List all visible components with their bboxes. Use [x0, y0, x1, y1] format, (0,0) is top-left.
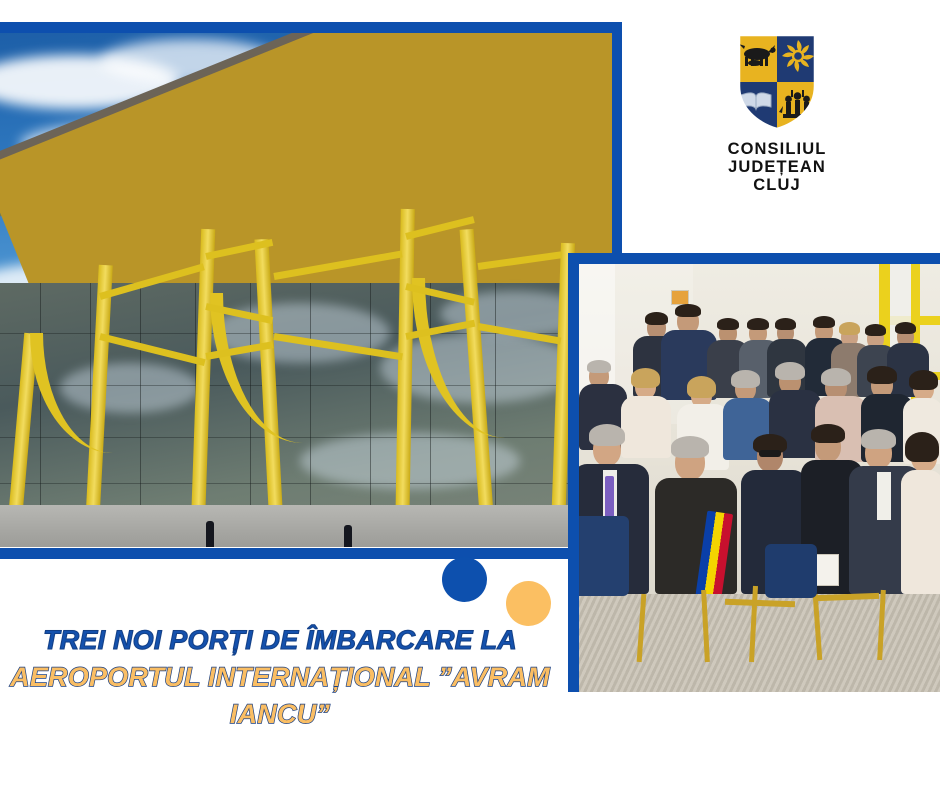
mullion	[310, 283, 311, 533]
attendee-hair	[775, 318, 796, 330]
seat-back	[765, 544, 817, 598]
pedestrian	[206, 521, 214, 547]
blue-circle-decor	[442, 557, 487, 602]
attendee-hair	[865, 324, 886, 336]
attendee-hair	[895, 322, 916, 334]
seat-back	[579, 516, 629, 596]
shirt	[877, 472, 891, 520]
county-council-logo: CONSILIUL JUDEȚEAN CLUJ	[712, 32, 842, 197]
attendee-hair	[671, 436, 709, 458]
frame-bar-bottom	[0, 548, 568, 559]
mullion	[370, 283, 371, 533]
attendee-hair	[587, 360, 611, 373]
coat-of-arms-shield-icon	[735, 32, 819, 132]
attendee-hair	[631, 368, 660, 388]
audience-event-photo	[579, 264, 940, 692]
attendee-hair	[861, 429, 896, 449]
mullion	[40, 283, 41, 533]
logo-line-3: CLUJ	[753, 176, 801, 194]
attendee-hair	[821, 368, 851, 386]
logo-line-2: JUDEȚEAN	[728, 158, 826, 176]
attendee-hair	[589, 424, 625, 446]
attendee-hair	[909, 370, 938, 390]
frame-bar-top-right	[568, 253, 940, 264]
logo-text-block: CONSILIUL JUDEȚEAN CLUJ	[712, 140, 842, 194]
frame-bar-left-right	[568, 253, 579, 692]
attendee-hair	[905, 432, 939, 462]
orange-circle-decor	[506, 581, 551, 626]
wall-socket	[671, 290, 689, 305]
attendee-hair	[813, 316, 835, 328]
floor	[579, 594, 940, 692]
attendee-hair	[775, 362, 805, 380]
attendee-body-front	[901, 470, 940, 594]
attendee-hair	[675, 304, 701, 317]
attendee-hair	[717, 318, 739, 330]
logo-line-1: CONSILIUL	[728, 140, 827, 158]
pedestrian	[344, 525, 352, 547]
mullion	[140, 283, 141, 533]
headline-line-2: AEROPORTUL INTERNAȚIONAL ”AVRAM	[0, 659, 560, 696]
terminal-forecourt	[0, 505, 612, 547]
attendee-hair	[811, 424, 845, 443]
attendee-hair	[731, 370, 760, 388]
headline: TREI NOI PORȚI DE ÎMBARCARE LA AEROPORTU…	[0, 622, 560, 733]
poster-canvas: CONSILIUL JUDEȚEAN CLUJ TREI NOI PORȚI D…	[0, 0, 940, 788]
attendee-hair	[839, 322, 860, 335]
attendee-hair	[867, 366, 897, 384]
attendee-body	[621, 396, 671, 458]
sunglasses	[759, 450, 781, 457]
attendee-hair	[687, 376, 716, 398]
frame-bar-top	[0, 22, 618, 33]
attendee-hair	[747, 318, 769, 330]
attendee-hair	[645, 312, 668, 325]
headline-line-3: IANCU”	[0, 696, 560, 733]
airport-terminal-photo	[0, 33, 612, 547]
headline-line-1: TREI NOI PORȚI DE ÎMBARCARE LA	[0, 622, 560, 659]
